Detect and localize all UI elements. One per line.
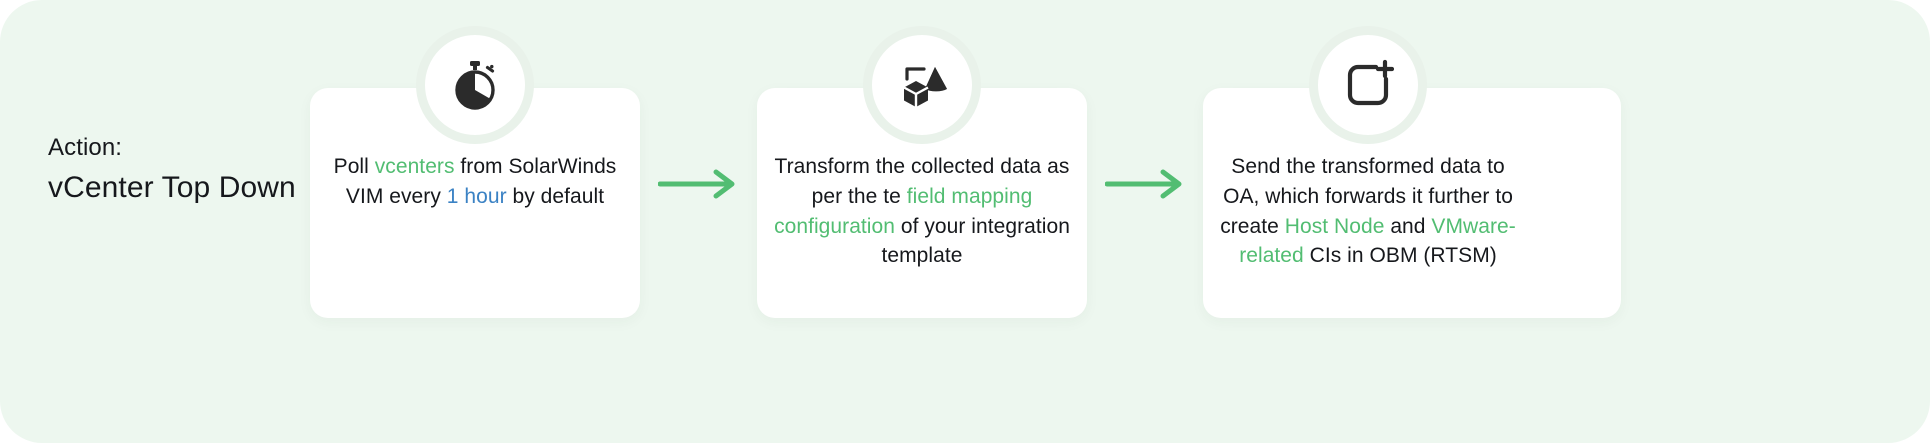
flow-step-send: Send the transformed data to OA, which f…	[1203, 88, 1533, 318]
add-square-icon	[1342, 59, 1394, 111]
step-description: Transform the collected data as per the …	[771, 152, 1073, 271]
action-title: vCenter Top Down	[48, 168, 298, 208]
segment-6: by default	[507, 185, 604, 208]
segment-2: of your integration template	[882, 215, 1070, 268]
segment-0: Poll	[334, 155, 375, 178]
step-description: Poll vcenters from SolarWinds VIM every …	[324, 152, 626, 212]
segment-2: and	[1384, 215, 1431, 238]
transform-shapes-icon	[894, 57, 950, 113]
segment-1: vcenters	[375, 155, 455, 178]
process-flow: Poll vcenters from SolarWinds VIM every …	[310, 0, 1930, 443]
action-label-block: Action: vCenter Top Down	[48, 133, 298, 207]
action-kicker: Action:	[48, 133, 298, 164]
add-square-icon-badge	[1309, 26, 1427, 144]
segment-1: Host Node	[1285, 215, 1385, 238]
arrow-right-icon-2	[1105, 168, 1187, 200]
flow-step-transform: Transform the collected data as per the …	[757, 88, 1087, 318]
arrow-right-icon-1	[658, 168, 740, 200]
diagram-canvas: Action: vCenter Top Down	[0, 0, 1930, 443]
stopwatch-icon	[447, 57, 503, 113]
step-description: Send the transformed data to OA, which f…	[1217, 152, 1519, 271]
flow-step-poll: Poll vcenters from SolarWinds VIM every …	[310, 88, 640, 318]
segment-3: 1	[447, 185, 459, 208]
transform-shapes-icon-badge	[863, 26, 981, 144]
segment-5: hour	[464, 185, 506, 208]
stopwatch-icon-badge	[416, 26, 534, 144]
segment-4: CIs in OBM (RTSM)	[1304, 244, 1497, 267]
